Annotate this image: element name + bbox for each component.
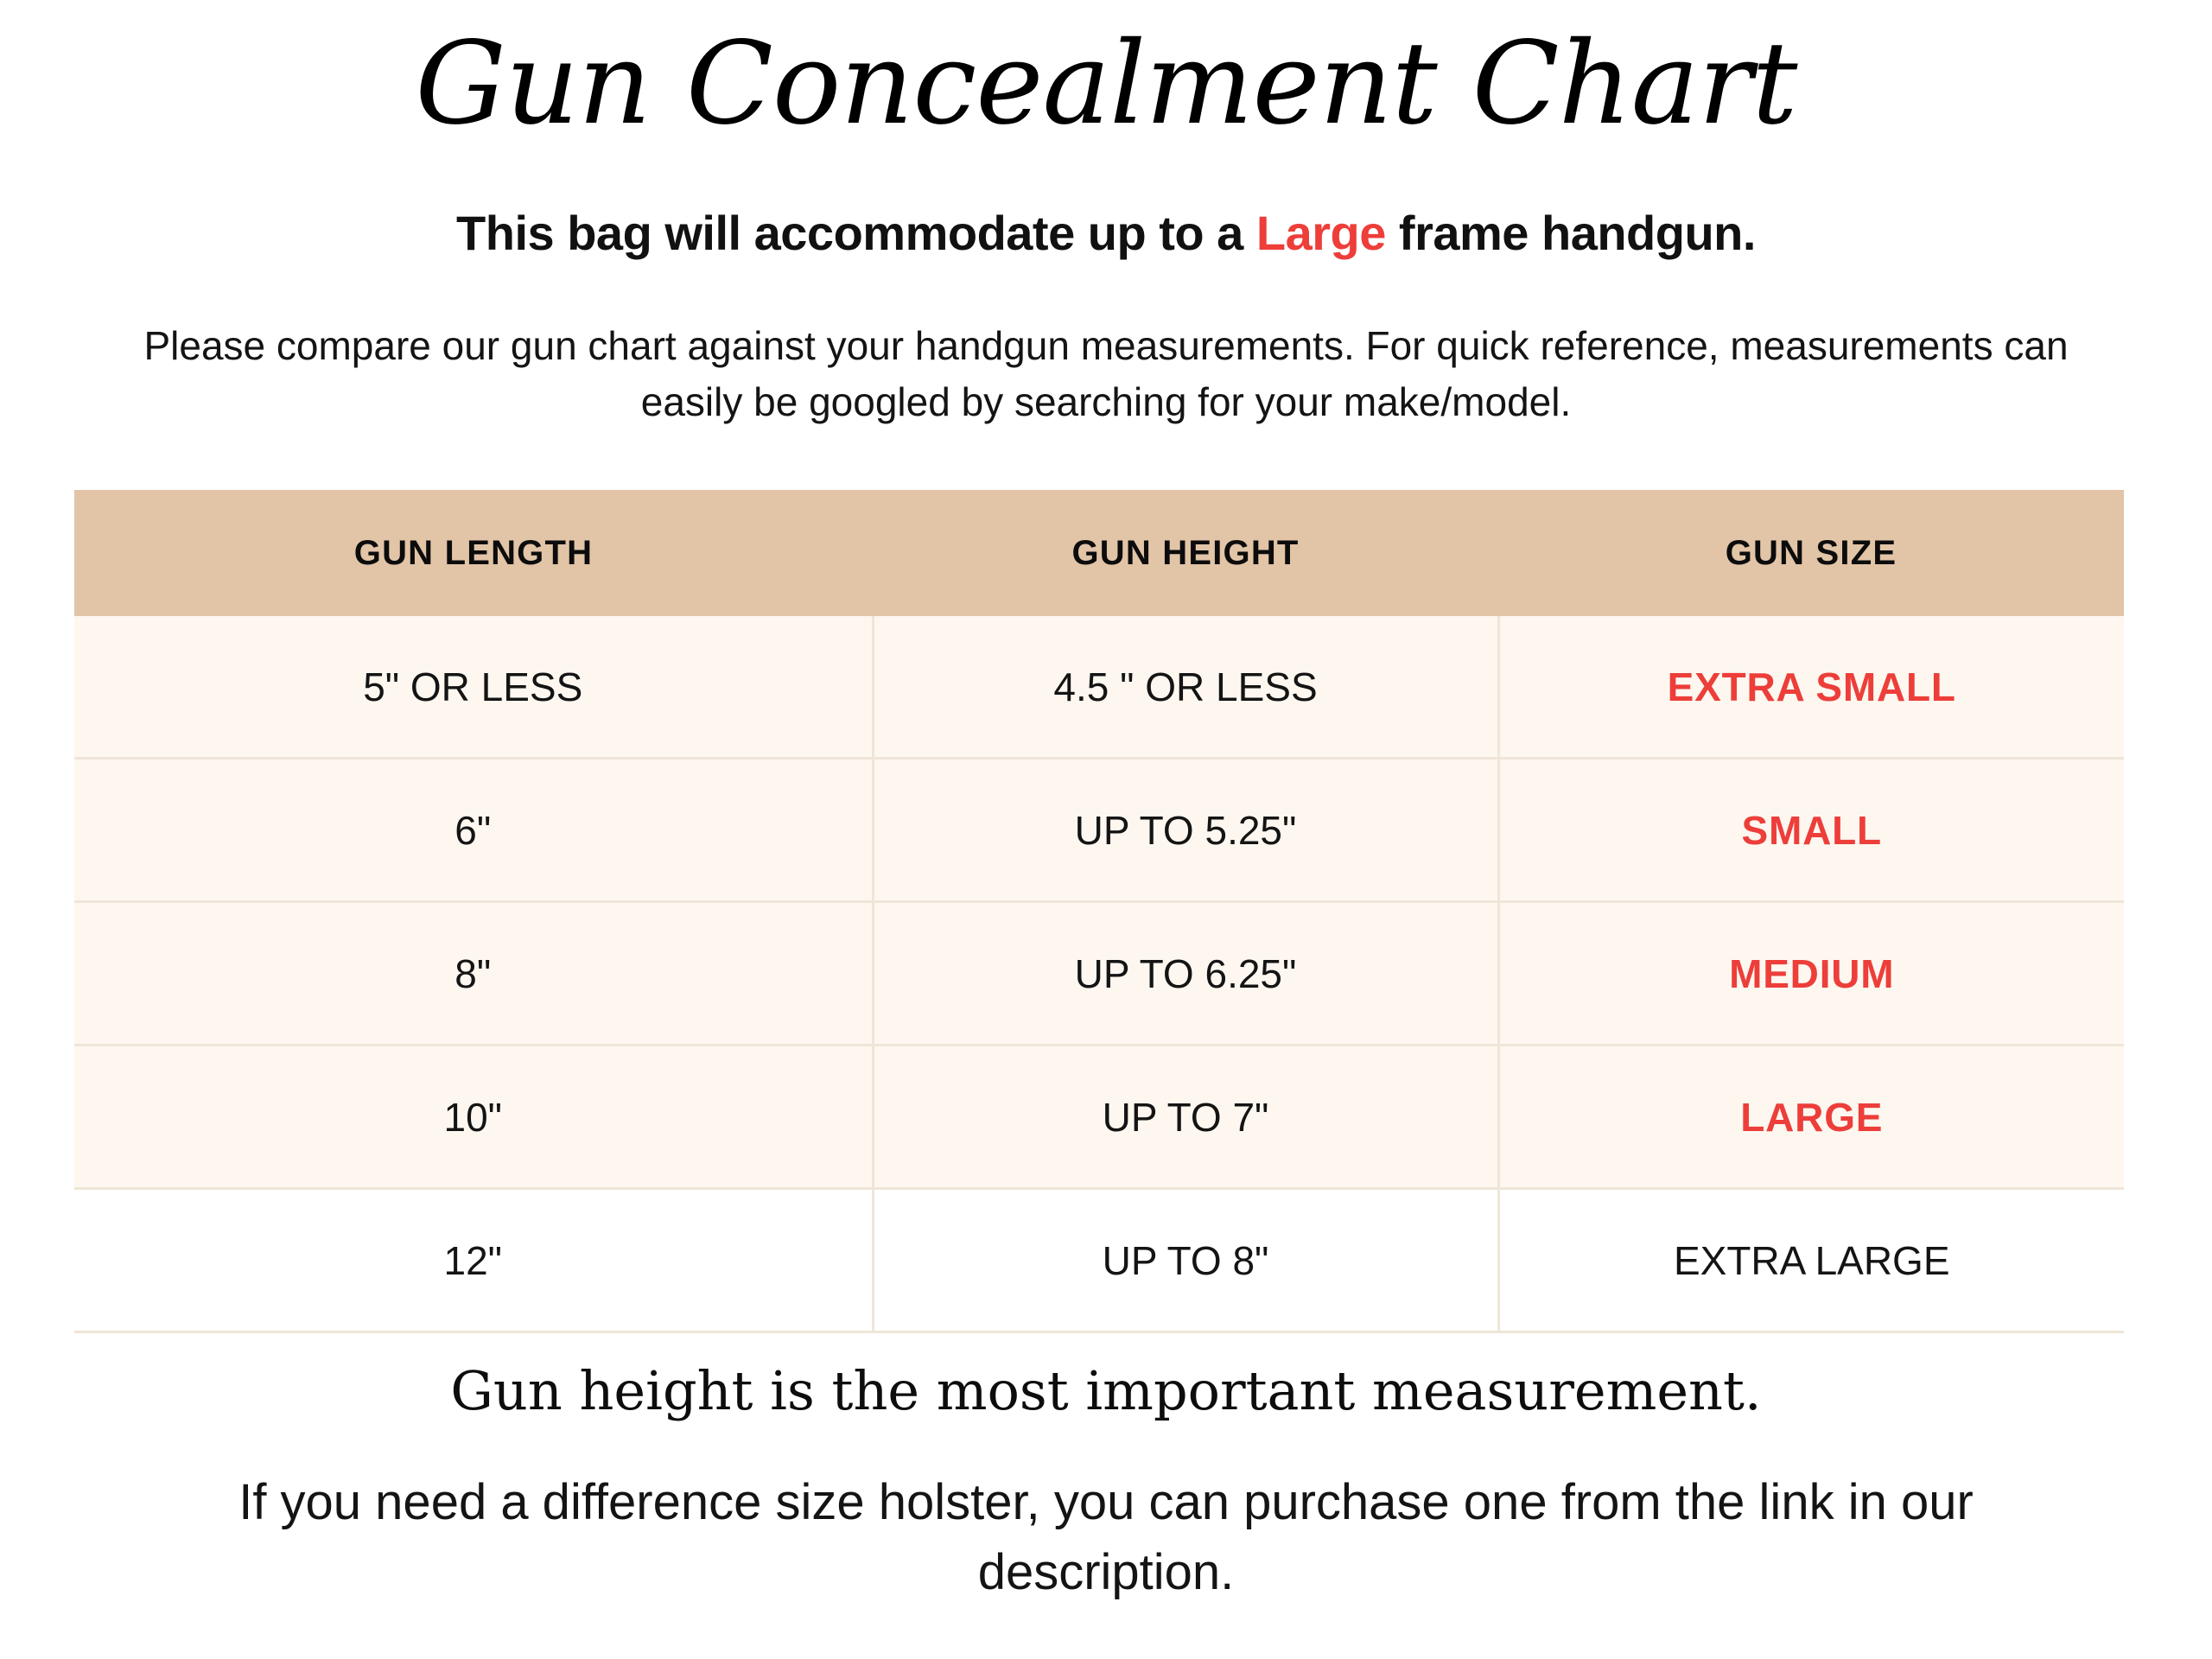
gun-concealment-chart-page: Gun Concealment Chart This bag will acco… (0, 0, 2212, 1659)
subtitle-accent-large: Large (1256, 206, 1386, 260)
cell-gun-length: 5" OR LESS (74, 616, 873, 759)
page-title: Gun Concealment Chart (0, 24, 2212, 144)
footer-paragraph: If you need a difference size holster, y… (199, 1467, 2013, 1607)
cell-gun-size: EXTRA SMALL (1498, 616, 2124, 759)
table-header: GUN LENGTH GUN HEIGHT GUN SIZE (74, 490, 2124, 616)
cell-gun-height: UP TO 6.25" (873, 902, 1498, 1046)
cell-gun-height: UP TO 5.25" (873, 759, 1498, 902)
subtitle: This bag will accommodate up to a Large … (0, 206, 2212, 261)
table-row: 10" UP TO 7" LARGE (74, 1046, 2124, 1189)
cell-gun-size: SMALL (1498, 759, 2124, 902)
cell-gun-height: UP TO 8" (873, 1189, 1498, 1332)
subtitle-text-after: frame handgun. (1386, 206, 1756, 260)
table-body: 5" OR LESS 4.5 " OR LESS EXTRA SMALL 6" … (74, 616, 2124, 1332)
table-row: 8" UP TO 6.25" MEDIUM (74, 902, 2124, 1046)
subtitle-text-before: This bag will accommodate up to a (456, 206, 1256, 260)
table-row: 5" OR LESS 4.5 " OR LESS EXTRA SMALL (74, 616, 2124, 759)
footer-note: Gun height is the most important measure… (0, 1362, 2212, 1421)
cell-gun-length: 10" (74, 1046, 873, 1189)
column-header-gun-size: GUN SIZE (1498, 490, 2124, 616)
column-header-gun-length: GUN LENGTH (74, 490, 873, 616)
cell-gun-height: UP TO 7" (873, 1046, 1498, 1189)
cell-gun-length: 12" (74, 1189, 873, 1332)
table-row: 12" UP TO 8" EXTRA LARGE (74, 1189, 2124, 1332)
column-header-gun-height: GUN HEIGHT (873, 490, 1498, 616)
cell-gun-size: EXTRA LARGE (1498, 1189, 2124, 1332)
cell-gun-length: 8" (74, 902, 873, 1046)
cell-gun-size: LARGE (1498, 1046, 2124, 1189)
table-row: 6" UP TO 5.25" SMALL (74, 759, 2124, 902)
gun-size-table: GUN LENGTH GUN HEIGHT GUN SIZE 5" OR LES… (74, 490, 2124, 1333)
table-header-row: GUN LENGTH GUN HEIGHT GUN SIZE (74, 490, 2124, 616)
intro-paragraph: Please compare our gun chart against you… (112, 318, 2100, 431)
cell-gun-height: 4.5 " OR LESS (873, 616, 1498, 759)
cell-gun-length: 6" (74, 759, 873, 902)
cell-gun-size: MEDIUM (1498, 902, 2124, 1046)
